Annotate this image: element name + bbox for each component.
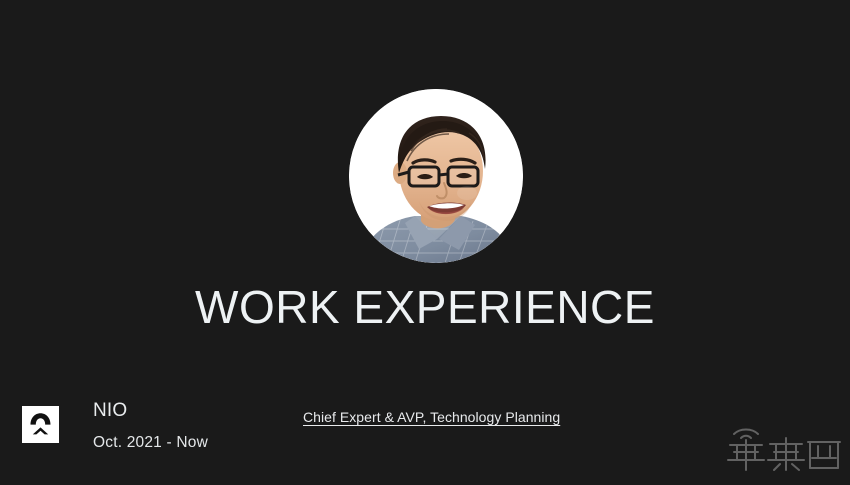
experience-row: NIO Oct. 2021 - Now Chief Expert & AVP, … [0, 398, 850, 458]
company-block: NIO Oct. 2021 - Now [93, 398, 283, 456]
job-title: Chief Expert & AVP, Technology Planning [303, 408, 560, 426]
page-title: WORK EXPERIENCE [0, 281, 850, 333]
nio-logo-mark [22, 406, 59, 443]
watermark [724, 424, 842, 474]
profile-photo-illustration [349, 89, 523, 263]
signal-arc-icon [734, 430, 758, 435]
watermark-logo [724, 424, 842, 474]
company-dates: Oct. 2021 - Now [93, 430, 283, 456]
company-name: NIO [93, 398, 283, 424]
work-experience-slide: WORK EXPERIENCE NIO Oct. 2021 - Now Chie… [0, 0, 850, 485]
profile-photo [349, 89, 523, 263]
nio-logo-icon [22, 406, 59, 443]
